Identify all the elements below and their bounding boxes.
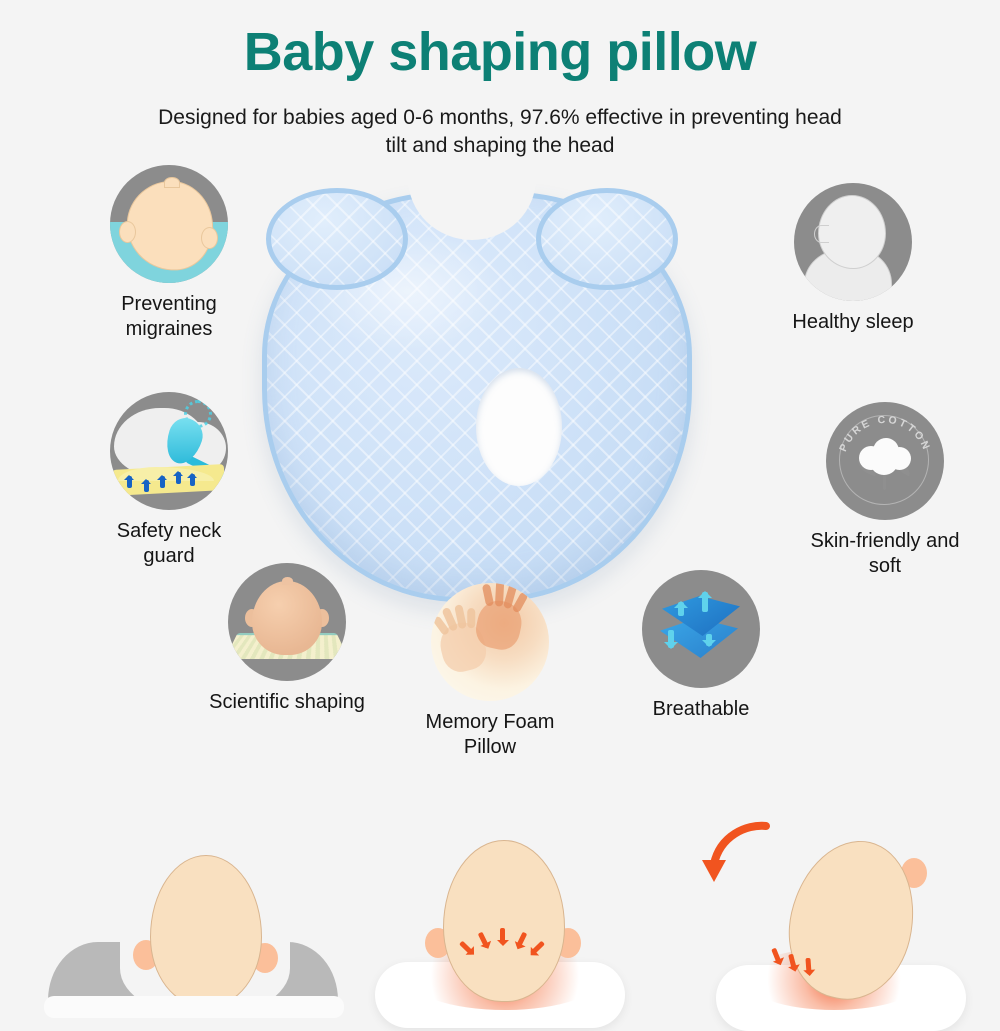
panel-head-tilt-pressure	[666, 800, 999, 1000]
baby-ear-shape	[814, 225, 829, 243]
feature-healthy-sleep: Healthy sleep	[753, 183, 953, 335]
cotton-puff-shape	[871, 453, 897, 475]
airflow-arrow-icon	[176, 472, 181, 484]
baby-head-top-view-icon	[110, 165, 228, 283]
baby-hair-tuft-shape	[164, 177, 180, 188]
feature-label: Memory Foam Pillow	[390, 710, 590, 760]
airflow-down-arrow-icon	[668, 630, 674, 648]
baby-head-shape	[150, 855, 262, 1007]
feature-label: Scientific shaping	[187, 690, 387, 715]
panel-flat-pillow-pressure	[333, 800, 666, 1000]
airflow-arrow-icon	[190, 474, 195, 486]
airflow-arrow-icon	[127, 476, 132, 488]
baby-head-on-mat-icon	[228, 563, 346, 681]
breathable-layers-icon	[642, 570, 760, 688]
infographic-canvas: Baby shaping pillow Designed for babies …	[0, 0, 1000, 1000]
airflow-mat-icon	[110, 392, 228, 510]
pillow-ear-right	[536, 188, 678, 290]
baby-ear-left-shape	[119, 221, 136, 243]
panel-contoured-support	[0, 800, 333, 1000]
cotton-boll-icon: PURE COTTON	[826, 402, 944, 520]
rotation-arrow-icon	[694, 820, 774, 886]
sleeping-baby-profile-icon	[794, 183, 912, 301]
airflow-arrow-icon	[144, 480, 149, 492]
airflow-arrow-icon	[160, 476, 165, 488]
airflow-down-arrow-icon	[706, 634, 712, 646]
finger-shape	[482, 583, 494, 606]
hand-press-foam-icon	[431, 583, 549, 701]
pillow-base-shape	[44, 996, 344, 1018]
feature-label: Safety neck guard	[69, 519, 269, 569]
pressure-arrow-icon	[805, 958, 811, 974]
bottom-illustration-row	[0, 800, 1000, 1000]
feature-scientific-shaping: Scientific shaping	[187, 563, 387, 715]
feature-label: Skin-friendly and soft	[785, 529, 985, 579]
feature-preventing-migraines: Preventing migraines	[69, 165, 269, 342]
feature-label: Healthy sleep	[753, 310, 953, 335]
baby-head-shape	[443, 840, 565, 1002]
product-image	[262, 192, 682, 592]
feature-breathable: Breathable	[601, 570, 801, 722]
feature-memory-foam-pillow: Memory Foam Pillow	[390, 583, 590, 760]
feature-safety-neck-guard: Safety neck guard	[69, 392, 269, 569]
baby-ear-right-shape	[201, 227, 218, 249]
feature-label: Breathable	[601, 697, 801, 722]
finger-shape	[467, 608, 475, 628]
baby-hair-tuft-shape	[282, 577, 293, 585]
airflow-up-arrow-icon	[678, 602, 684, 616]
cotton-boll-shape	[857, 436, 913, 480]
feature-label: Preventing migraines	[69, 292, 269, 342]
baby-head-shape	[252, 581, 322, 655]
feature-skin-friendly-and-soft: PURE COTTON Skin-friendly and soft	[785, 402, 985, 579]
pillow-center-hole	[476, 368, 562, 486]
airflow-up-arrow-icon	[702, 592, 708, 612]
pressure-arrow-icon	[500, 928, 505, 944]
page-title: Baby shaping pillow	[0, 24, 1000, 81]
page-subtitle: Designed for babies aged 0-6 months, 97.…	[150, 104, 850, 161]
pillow-ear-left	[266, 188, 408, 290]
